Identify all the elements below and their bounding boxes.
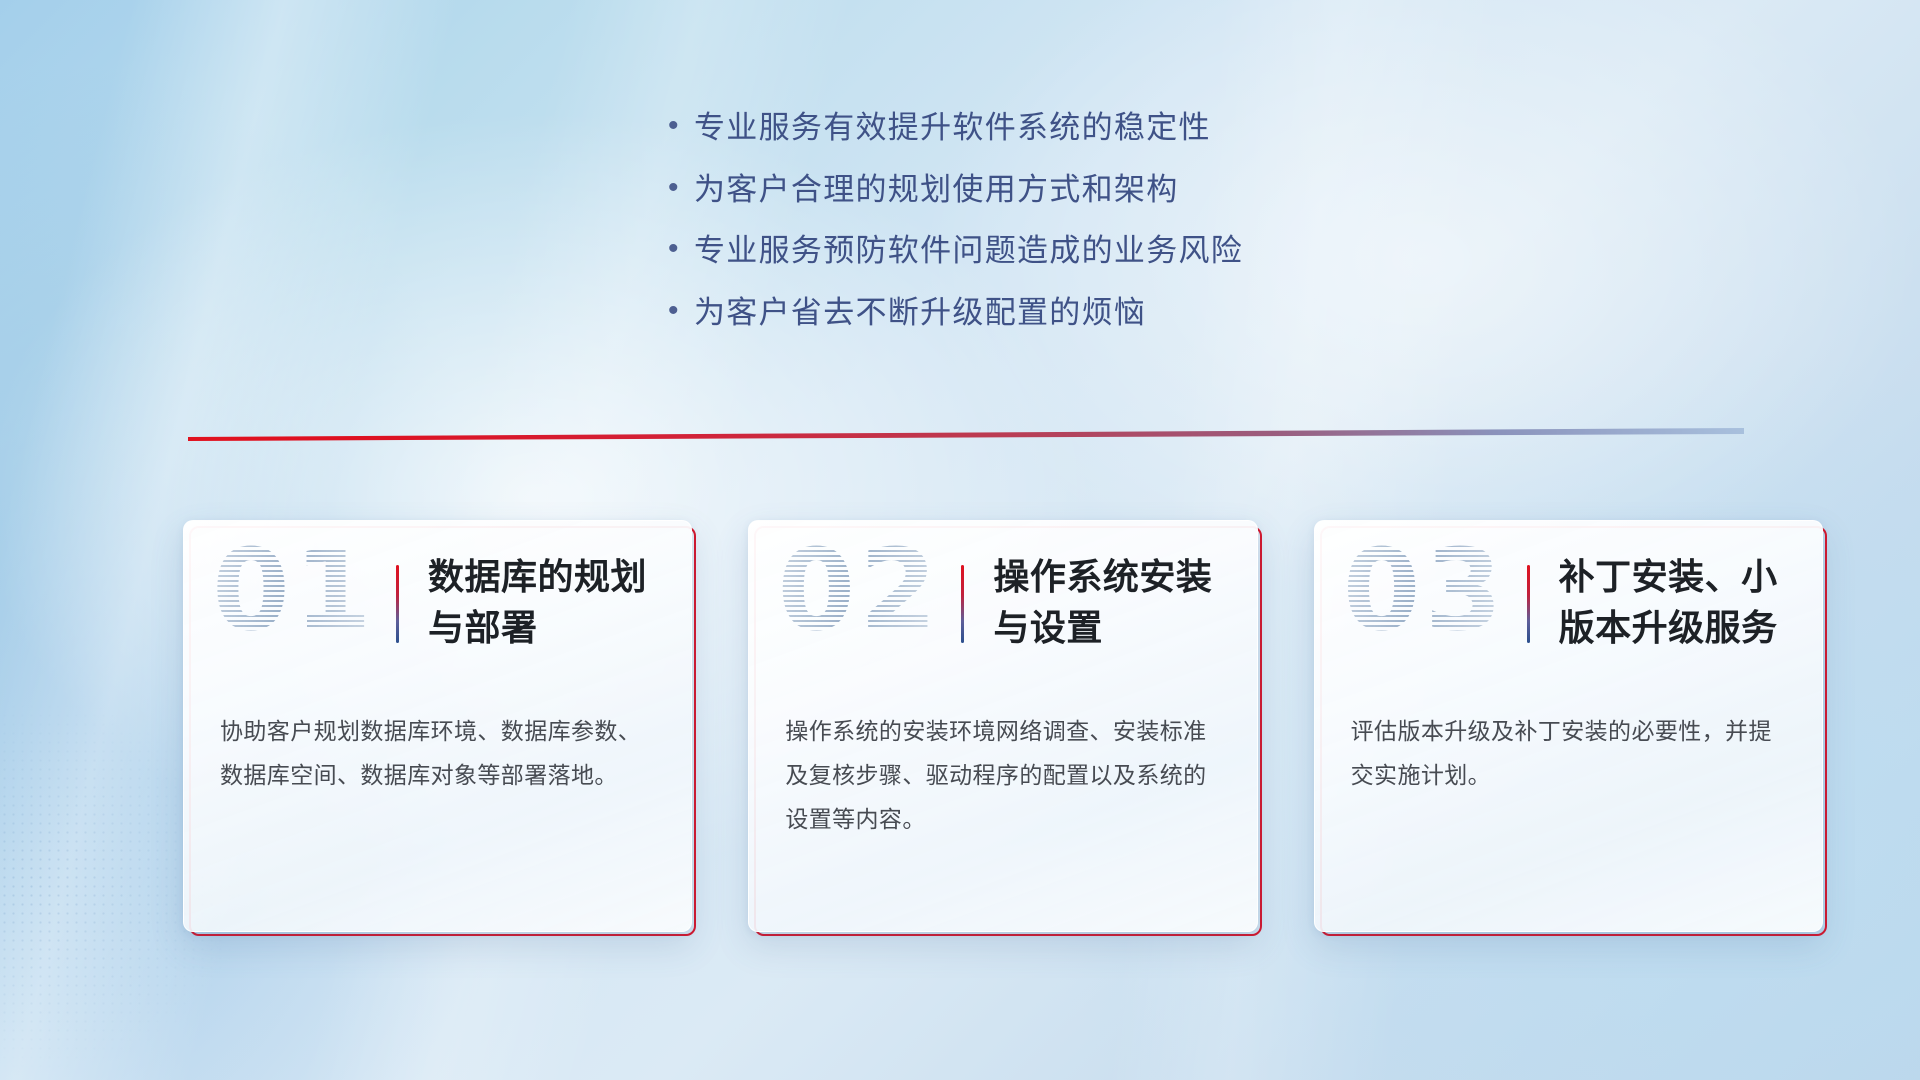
card-description: 评估版本升级及补丁安装的必要性，并提交实施计划。 [1351, 709, 1794, 797]
list-item: • 专业服务预防软件问题造成的业务风险 [668, 231, 1243, 271]
bullet-text: 为客户合理的规划使用方式和架构 [694, 170, 1179, 210]
list-item: • 为客户合理的规划使用方式和架构 [668, 170, 1243, 210]
card-surface: 03 补丁安装、小版本升级服务 评估版本升级及补丁安装的必要性，并提交实施计划。 [1314, 520, 1823, 932]
bullet-marker-icon: • [668, 173, 694, 203]
card-divider-bar [396, 565, 399, 643]
slide-canvas: • 专业服务有效提升软件系统的稳定性 • 为客户合理的规划使用方式和架构 • 专… [0, 0, 1920, 1080]
card-divider-bar [1527, 565, 1530, 643]
card-divider-bar [961, 565, 964, 643]
card-header: 02 操作系统安装与设置 [749, 521, 1256, 681]
card-title: 数据库的规划与部署 [428, 551, 673, 653]
card-title: 操作系统安装与设置 [993, 551, 1238, 653]
bullet-marker-icon: • [668, 111, 694, 141]
bullet-marker-icon: • [668, 296, 694, 326]
section-divider [188, 424, 1744, 444]
service-card[interactable]: 02 操作系统安装与设置 操作系统的安装环境网络调查、安装标准及复核步骤、驱动程… [748, 520, 1257, 932]
service-card[interactable]: 01 数据库的规划与部署 协助客户规划数据库环境、数据库参数、数据库空间、数据库… [183, 520, 692, 932]
card-header: 01 数据库的规划与部署 [184, 521, 691, 681]
card-number-watermark: 02 [777, 535, 941, 647]
divider-shape-icon [188, 424, 1744, 444]
service-card[interactable]: 03 补丁安装、小版本升级服务 评估版本升级及补丁安装的必要性，并提交实施计划。 [1314, 520, 1823, 932]
benefits-bullet-list: • 专业服务有效提升软件系统的稳定性 • 为客户合理的规划使用方式和架构 • 专… [668, 108, 1243, 333]
bullet-text: 专业服务预防软件问题造成的业务风险 [694, 231, 1243, 271]
list-item: • 专业服务有效提升软件系统的稳定性 [668, 108, 1243, 148]
card-surface: 01 数据库的规划与部署 协助客户规划数据库环境、数据库参数、数据库空间、数据库… [183, 520, 692, 932]
bullet-text: 为客户省去不断升级配置的烦恼 [694, 293, 1146, 333]
card-title: 补丁安装、小版本升级服务 [1559, 551, 1804, 653]
card-description: 协助客户规划数据库环境、数据库参数、数据库空间、数据库对象等部署落地。 [220, 709, 663, 797]
bullet-text: 专业服务有效提升软件系统的稳定性 [694, 108, 1211, 148]
list-item: • 为客户省去不断升级配置的烦恼 [668, 293, 1243, 333]
bullet-marker-icon: • [668, 234, 694, 264]
card-number-watermark: 03 [1343, 535, 1507, 647]
card-number-watermark: 01 [212, 535, 376, 647]
card-header: 03 补丁安装、小版本升级服务 [1315, 521, 1822, 681]
service-card-grid: 01 数据库的规划与部署 协助客户规划数据库环境、数据库参数、数据库空间、数据库… [183, 520, 1823, 932]
card-description: 操作系统的安装环境网络调查、安装标准及复核步骤、驱动程序的配置以及系统的设置等内… [785, 709, 1228, 841]
card-surface: 02 操作系统安装与设置 操作系统的安装环境网络调查、安装标准及复核步骤、驱动程… [748, 520, 1257, 932]
